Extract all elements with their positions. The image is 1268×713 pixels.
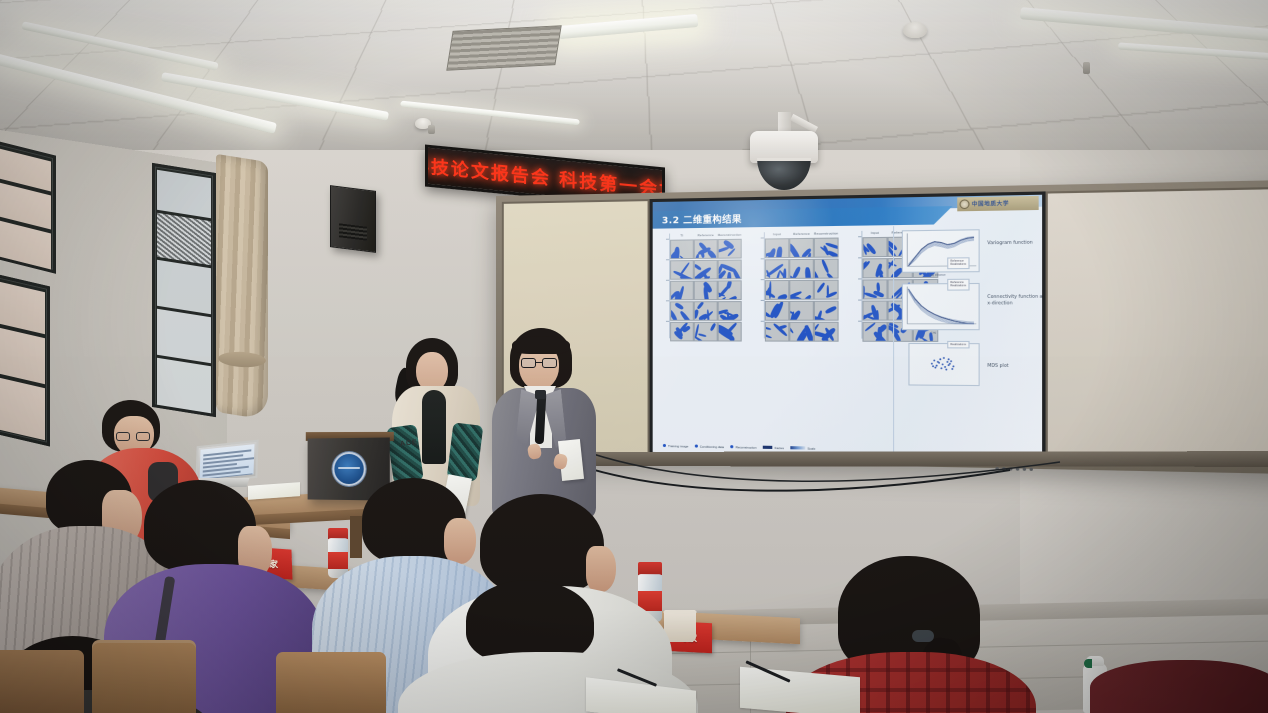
reconstruction-cell xyxy=(789,280,814,300)
sprinkler-icon xyxy=(428,125,435,134)
grid-axis xyxy=(848,231,862,339)
chair-back xyxy=(276,652,386,713)
channel-stroke xyxy=(789,243,801,258)
scatter-point xyxy=(939,358,941,360)
reconstruction-cell xyxy=(789,301,814,321)
scatter-point xyxy=(949,363,951,365)
reconstruction-cell xyxy=(765,238,789,258)
grid-column: Input xyxy=(765,232,789,342)
reconstruction-cell xyxy=(694,260,718,280)
reconstruction-cell xyxy=(670,301,694,321)
legend-entry: Realizations xyxy=(950,284,966,288)
channel-stroke xyxy=(824,305,836,314)
channel-stroke xyxy=(727,272,731,280)
glasses-icon xyxy=(521,358,557,368)
grid-axis xyxy=(751,232,765,338)
connectivity-legend: Reference Realizations xyxy=(947,279,970,291)
channel-stroke xyxy=(814,269,821,279)
channel-stroke xyxy=(777,293,788,300)
connectivity-label: Connectivity function along x-direction xyxy=(987,293,1042,306)
reconstruction-cell xyxy=(862,300,887,320)
reconstruction-cell xyxy=(789,238,814,258)
reconstruction-cell xyxy=(718,322,742,342)
reconstruction-cell xyxy=(862,322,887,342)
scatter-point xyxy=(944,366,946,368)
reconstruction-image-grid: TI Reference Reconstruction xyxy=(653,226,893,456)
scatter-point xyxy=(945,369,947,371)
reconstruction-cell xyxy=(789,322,814,342)
variogram-legend: Reference Realizations xyxy=(947,257,970,269)
reconstruction-cell xyxy=(765,259,789,279)
laptop-screen xyxy=(199,444,254,480)
scatter-point xyxy=(946,361,948,363)
whiteboard-panel-right xyxy=(1046,186,1268,469)
channel-stroke xyxy=(798,294,812,300)
channel-stroke xyxy=(679,255,694,260)
chair-back xyxy=(0,650,84,713)
smoke-detector-icon xyxy=(903,22,927,38)
ac-vent-icon xyxy=(446,25,561,71)
scatter-point xyxy=(952,365,954,367)
board-assembly: 3.2 二维重构结果 中国地质大学 xyxy=(496,179,1268,476)
reconstruction-cell xyxy=(814,301,839,321)
mds-plot-canvas xyxy=(909,344,978,385)
reconstruction-cell xyxy=(694,239,718,259)
slide-title: 3.2 二维重构结果 xyxy=(653,212,742,227)
grid-column: Reconstruction xyxy=(814,231,839,342)
sprinkler-icon xyxy=(1083,62,1090,74)
channel-stroke xyxy=(709,323,716,332)
legend-entry: Realizations xyxy=(950,343,966,347)
channel-stroke xyxy=(782,268,786,279)
reconstruction-cell xyxy=(814,322,839,342)
reconstruction-cell xyxy=(670,281,694,301)
scatter-point xyxy=(935,365,937,367)
scatter-point xyxy=(933,360,935,362)
channel-stroke xyxy=(816,282,826,294)
scatter-point xyxy=(932,365,934,367)
suspended-ceiling xyxy=(0,0,1268,175)
channel-stroke xyxy=(694,263,702,270)
scatter-point xyxy=(943,357,945,359)
grid-column: Input xyxy=(862,231,887,342)
channel-stroke xyxy=(805,267,811,279)
reconstruction-cell xyxy=(765,301,789,321)
reconstruction-cell xyxy=(789,259,814,279)
connectivity-chart-canvas xyxy=(903,284,979,329)
grid-column: Reconstruction xyxy=(718,233,742,342)
reconstruction-cell xyxy=(862,258,887,278)
reconstruction-cell xyxy=(862,279,887,299)
audience-shirt xyxy=(1090,660,1268,713)
variogram-xlabel: Lag distance xyxy=(929,274,945,277)
channel-stroke xyxy=(789,322,794,333)
legend-entry: Realizations xyxy=(950,263,966,267)
mds-legend: Realizations xyxy=(947,341,970,349)
reconstruction-cell xyxy=(670,322,694,342)
reconstruction-cell xyxy=(694,280,718,300)
reconstruction-cell xyxy=(814,280,839,300)
grid-axis xyxy=(657,234,670,339)
channel-stroke xyxy=(776,246,783,258)
reconstruction-cell xyxy=(670,260,694,280)
grid-column: Reference xyxy=(694,233,718,342)
mds-plot xyxy=(908,343,979,386)
reconstruction-cell xyxy=(718,301,742,321)
reconstruction-cell xyxy=(765,280,789,300)
channel-stroke xyxy=(878,323,888,333)
smart-display[interactable]: 3.2 二维重构结果 中国地质大学 xyxy=(650,191,1046,462)
scatter-point xyxy=(951,368,953,370)
reconstruction-cell xyxy=(862,237,887,257)
connectivity-xlabel: Lag xyxy=(931,331,936,334)
channel-stroke xyxy=(765,326,772,331)
channel-stroke xyxy=(679,275,694,280)
channel-stroke xyxy=(670,309,677,320)
hair-tie xyxy=(912,630,934,642)
reconstruction-cell xyxy=(765,322,789,342)
channel-stroke xyxy=(718,246,730,254)
reconstruction-cell xyxy=(670,239,694,259)
scatter-point xyxy=(950,360,952,362)
channel-stroke xyxy=(765,333,772,340)
scatter-point xyxy=(931,363,933,365)
window-curtain xyxy=(216,154,268,420)
channel-stroke xyxy=(698,333,706,337)
audience-far-right xyxy=(1090,660,1268,713)
reconstruction-cell xyxy=(718,260,742,280)
scatter-point xyxy=(934,367,936,369)
variogram-label: Variogram function xyxy=(987,239,1042,246)
channel-stroke xyxy=(679,310,693,321)
reconstruction-cell xyxy=(718,280,742,300)
speaker-grill-icon xyxy=(339,223,367,240)
university-logo: 中国地质大学 xyxy=(957,196,1038,211)
tie-knot xyxy=(535,390,546,399)
conference-room-photo: 科技论文报告会 科技第一会场 Security 3.2 二维重构结果 中国地质大… xyxy=(0,0,1268,713)
channel-stroke xyxy=(864,322,876,332)
channel-stroke xyxy=(697,302,704,310)
reconstruction-cell xyxy=(694,322,718,342)
scatter-point xyxy=(941,363,943,365)
scatter-point xyxy=(937,361,939,363)
channel-stroke xyxy=(674,302,685,311)
presenter-inner-top xyxy=(422,390,446,464)
logo-mark-icon xyxy=(959,199,969,209)
reconstruction-cell xyxy=(718,239,742,259)
slide-charts-panel: Reference Realizations Lag distance Vari… xyxy=(893,224,1042,459)
reconstruction-cell xyxy=(694,301,718,321)
scatter-point xyxy=(947,358,949,360)
channel-stroke xyxy=(731,268,741,279)
grid-column: Reference xyxy=(789,232,814,342)
audience-white-shirt-b xyxy=(380,580,680,713)
wall-speaker xyxy=(330,185,376,253)
mds-label: MDS plot xyxy=(987,362,1042,368)
university-logo-text: 中国地质大学 xyxy=(972,200,1009,208)
glasses-icon xyxy=(116,432,150,441)
reconstruction-cell xyxy=(814,238,839,258)
window-left-lower xyxy=(0,274,50,447)
channel-stroke xyxy=(826,272,835,278)
presenter-bangs xyxy=(512,336,570,354)
chair-back xyxy=(92,640,196,713)
scatter-point xyxy=(940,367,942,369)
presentation-slide: 3.2 二维重构结果 中国地质大学 xyxy=(653,195,1042,460)
channel-stroke xyxy=(876,283,880,293)
grid-column: TI xyxy=(670,233,694,341)
window-center xyxy=(152,163,216,417)
reconstruction-cell xyxy=(814,259,839,279)
window-left-upper xyxy=(0,140,56,273)
channel-stroke xyxy=(821,259,830,273)
